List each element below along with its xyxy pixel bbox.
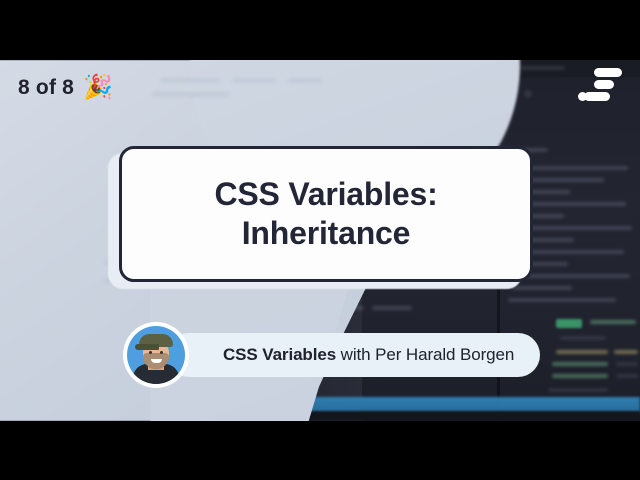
logo-bar-top	[594, 68, 622, 77]
avatar-eye-left	[149, 351, 152, 354]
attribution-instructor: Per Harald Borgen	[375, 345, 514, 364]
attribution-connector: with	[341, 345, 371, 364]
avatar-image	[127, 326, 185, 384]
attribution-pill: CSS Variables with Per Harald Borgen	[167, 333, 540, 377]
letterbox-bottom	[0, 421, 640, 480]
avatar-eye-right	[160, 351, 163, 354]
scrimba-logo[interactable]	[576, 62, 622, 96]
attribution-text: CSS Variables with Per Harald Borgen	[223, 345, 514, 365]
logo-bar-middle	[594, 80, 614, 89]
party-popper-emoji: 🎉	[83, 76, 113, 100]
instructor-avatar	[123, 322, 189, 388]
slide-title: CSS Variables: Inheritance	[214, 175, 437, 253]
slide-title-line-1: CSS Variables:	[214, 176, 437, 212]
progress-indicator: 8 of 8 🎉	[18, 76, 113, 100]
progress-label: 8 of 8	[18, 76, 74, 100]
terminal-status-badge	[556, 319, 582, 328]
avatar-cap-brim	[135, 344, 159, 350]
title-card: CSS Variables: Inheritance	[119, 146, 533, 282]
logo-bar-bottom	[584, 92, 610, 101]
logo-dot	[578, 92, 587, 101]
slide-stage: 8 of 8 🎉 CSS Variables: Inheritance CSS …	[0, 0, 640, 480]
letterbox-top	[0, 0, 640, 60]
attribution-course: CSS Variables	[223, 345, 336, 364]
slide-title-line-2: Inheritance	[242, 215, 411, 251]
